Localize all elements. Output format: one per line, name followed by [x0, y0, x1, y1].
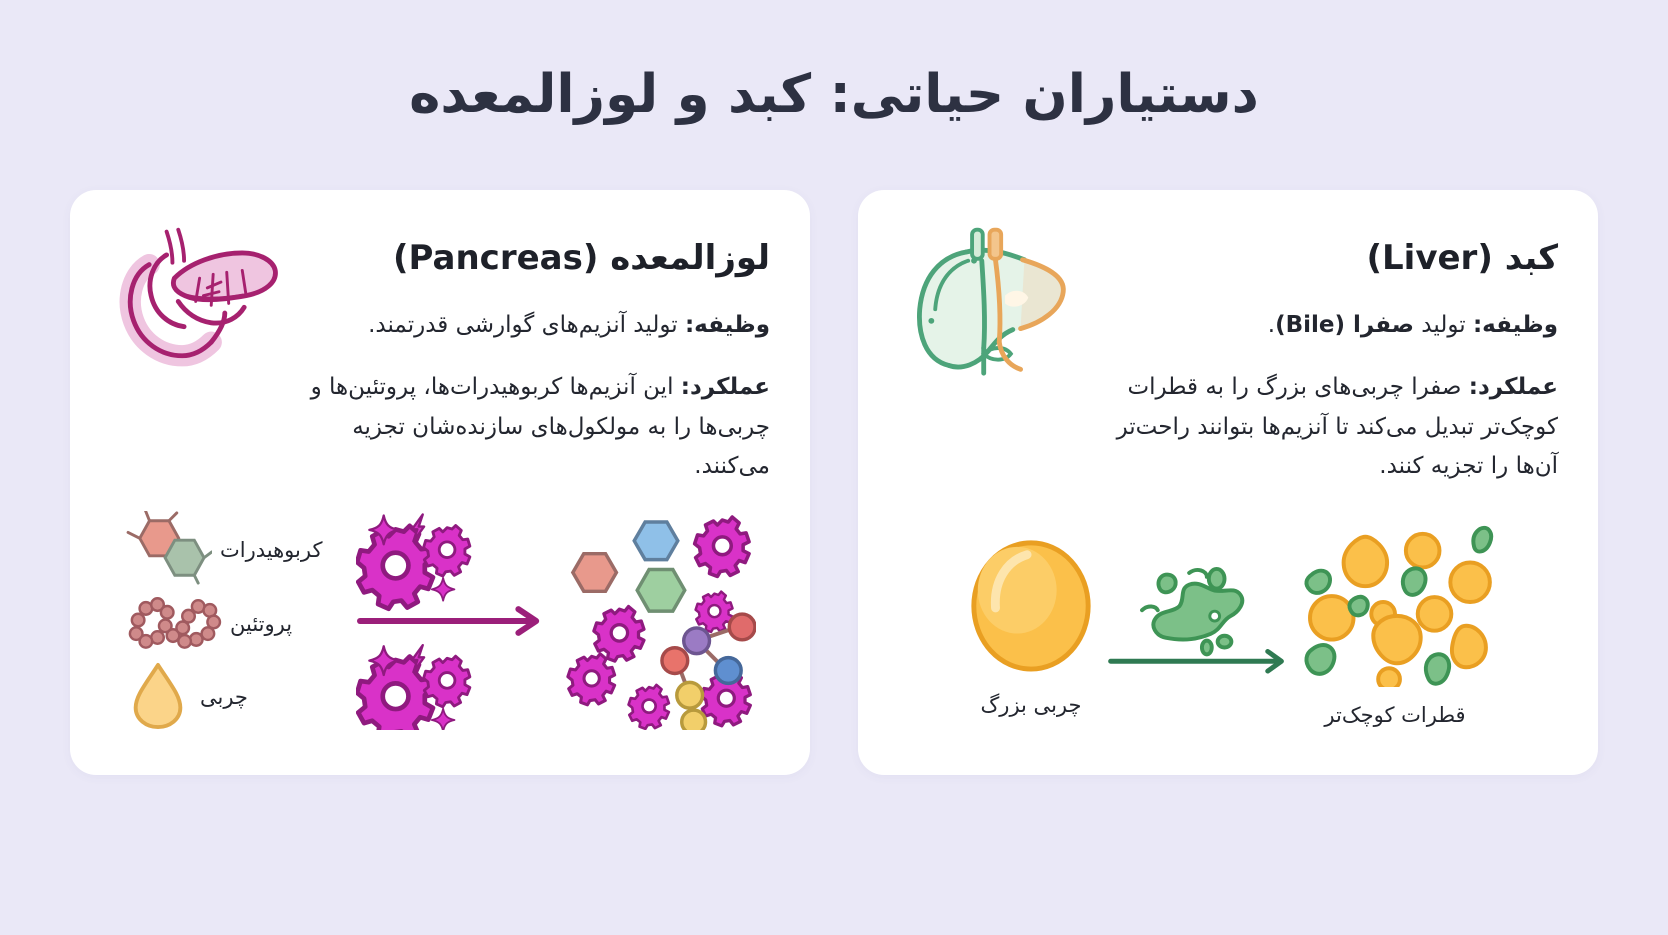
- pancreas-card-header: لوزالمعده (Pancreas) وظیفه: تولید آنزیم‌…: [110, 224, 770, 486]
- pancreas-head-text: لوزالمعده (Pancreas) وظیفه: تولید آنزیم‌…: [305, 224, 770, 486]
- liver-input-group: چربی بزرگ: [962, 529, 1100, 717]
- substrate-label-protein: پروتئین: [230, 612, 352, 636]
- pancreas-role-lead: وظیفه:: [685, 312, 770, 338]
- liver-role: وظیفه: تولید صفرا (Bile).: [1093, 306, 1558, 346]
- liver-card-header: کبد (Liver) وظیفه: تولید صفرا (Bile). عم…: [898, 224, 1558, 486]
- substrate-label-fat: چربی: [200, 685, 322, 709]
- card-liver[interactable]: کبد (Liver) وظیفه: تولید صفرا (Bile). عم…: [858, 190, 1598, 775]
- liver-output-caption: قطرات کوچک‌تر: [1324, 703, 1465, 727]
- pancreas-function-lead: عملکرد:: [681, 374, 770, 400]
- pancreas-arrow-group: [356, 512, 554, 734]
- building-block-molecules-icon: [558, 512, 756, 734]
- pancreas-role: وظیفه: تولید آنزیم‌های گوارشی قدرتمند.: [305, 306, 770, 346]
- liver-diagram: چربی بزرگ: [898, 501, 1558, 751]
- liver-role-lead: وظیفه:: [1473, 312, 1558, 338]
- substrate-row-fat: چربی: [124, 659, 322, 735]
- substrate-label-carbohydrate: کربوهیدرات: [220, 538, 342, 562]
- poster-root: دستیاران حیاتی: کبد و لوزالمعده: [0, 0, 1668, 935]
- liver-role-emphasis: صفرا (Bile): [1275, 312, 1414, 338]
- substrate-row-protein: پروتئین: [124, 591, 352, 657]
- liver-icon: [898, 220, 1083, 380]
- fat-droplet-icon: [124, 659, 192, 735]
- liver-arrow-group: [1104, 567, 1292, 679]
- liver-title: کبد (Liver): [1093, 236, 1558, 280]
- page-title: دستیاران حیاتی: کبد و لوزالمعده: [409, 62, 1259, 128]
- pancreas-output-group: [558, 512, 756, 734]
- card-pancreas[interactable]: لوزالمعده (Pancreas) وظیفه: تولید آنزیم‌…: [70, 190, 810, 775]
- small-fat-droplets-icon: [1296, 519, 1494, 691]
- pancreas-title: لوزالمعده (Pancreas): [305, 236, 770, 280]
- pancreas-substrates-group: کربوهیدرات: [124, 511, 352, 735]
- large-fat-globule-icon: [962, 529, 1100, 681]
- substrate-list: کربوهیدرات: [124, 511, 352, 735]
- liver-role-text: تولید: [1414, 312, 1473, 338]
- pancreas-diagram: کربوهیدرات: [110, 501, 770, 751]
- pancreas-role-text: تولید آنزیم‌های گوارشی قدرتمند.: [368, 312, 685, 338]
- substrate-row-carbohydrate: کربوهیدرات: [124, 511, 342, 589]
- pancreas-function: عملکرد: این آنزیم‌ها کربوهیدرات‌ها، پروت…: [305, 368, 770, 487]
- liver-head-text: کبد (Liver) وظیفه: تولید صفرا (Bile). عم…: [1093, 224, 1558, 486]
- liver-output-group: قطرات کوچک‌تر: [1296, 519, 1494, 727]
- enzyme-gears-icon: [356, 512, 554, 734]
- liver-role-tail: .: [1268, 312, 1275, 338]
- cards-row: کبد (Liver) وظیفه: تولید صفرا (Bile). عم…: [0, 190, 1668, 775]
- liver-input-caption: چربی بزرگ: [981, 693, 1082, 717]
- liver-function-lead: عملکرد:: [1469, 374, 1558, 400]
- liver-function: عملکرد: صفرا چربی‌های بزرگ را به قطرات ک…: [1093, 368, 1558, 487]
- carbohydrate-hexagons-icon: [124, 511, 212, 589]
- bile-splash-icon: [1104, 567, 1292, 679]
- pancreas-icon: [110, 220, 295, 380]
- protein-chain-icon: [124, 591, 222, 657]
